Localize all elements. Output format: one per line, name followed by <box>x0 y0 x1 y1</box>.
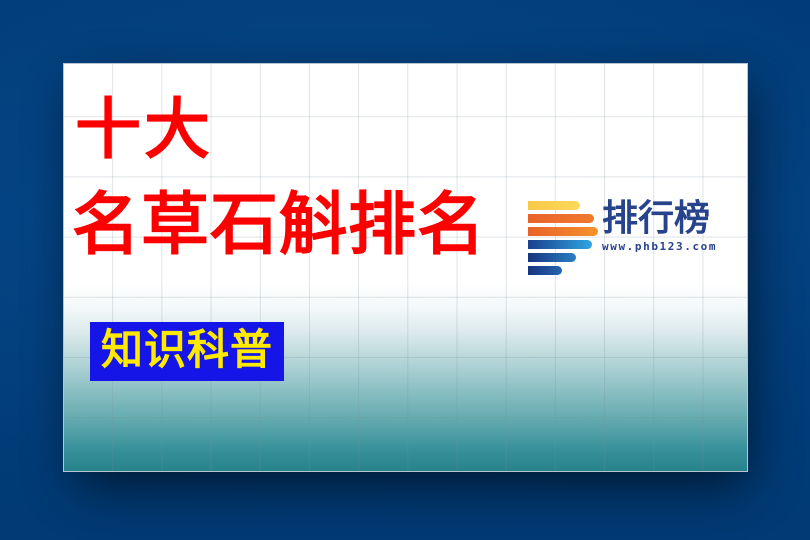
bar-2-orange-icon <box>528 214 594 223</box>
status-badge: 知识科普 <box>90 322 284 381</box>
logo-website-url: www.phb123.com <box>602 240 742 253</box>
bar-1-yellow-icon <box>528 201 580 210</box>
page-title-line-1: 十大 <box>75 97 213 163</box>
bar-3-orange-icon <box>528 227 598 236</box>
content-card: 十大 名草石斛排名 排行榜 www.phb123.com 知识科普 <box>63 63 748 472</box>
slide-canvas: 十大 名草石斛排名 排行榜 www.phb123.com 知识科普 <box>0 0 810 540</box>
card-content: 十大 名草石斛排名 排行榜 www.phb123.com 知识科普 <box>64 64 747 471</box>
bar-5-blue-icon <box>528 253 576 262</box>
status-badge-label: 知识科普 <box>101 327 273 373</box>
bar-4-blue-icon <box>528 240 592 249</box>
logo-wordmark: 排行榜 www.phb123.com <box>602 199 742 253</box>
page-title-line-2: 名草石斛排名 <box>72 192 486 260</box>
brand-logo: 排行榜 www.phb123.com <box>528 199 743 284</box>
logo-brand-name: 排行榜 <box>602 199 742 239</box>
bar-6-blue-icon <box>528 266 562 275</box>
logo-bars-icon <box>528 201 600 279</box>
